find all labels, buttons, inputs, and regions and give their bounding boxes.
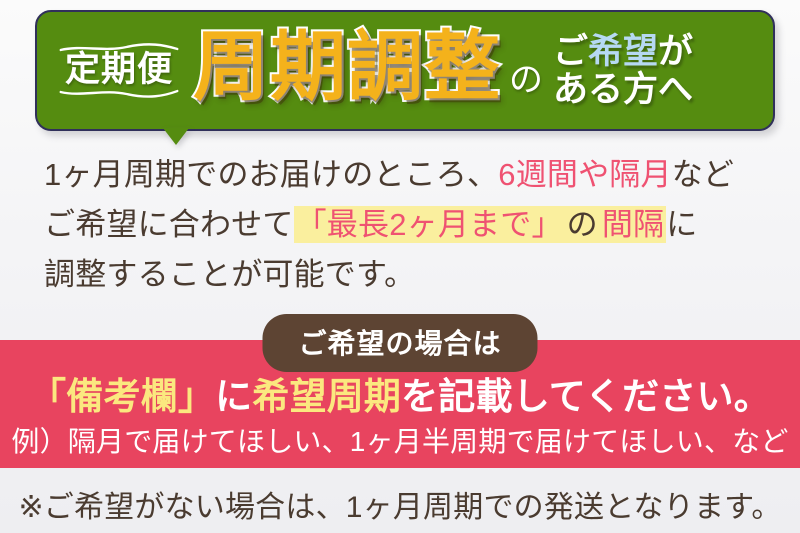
- header-callout-box: 定期便 周期調整 の ご希望が ある方へ: [35, 10, 775, 131]
- wish-callout-line-1: ご希望が: [553, 33, 693, 71]
- body-line-1-text-b: や: [578, 157, 609, 192]
- instruction-text-a: に: [215, 376, 252, 417]
- wish-prefix: ご: [553, 32, 588, 71]
- body-line-1-text-c: など: [672, 157, 734, 192]
- instruction-text-b: を記載してください。: [401, 376, 771, 417]
- subscription-badge-label: 定期便: [65, 52, 173, 87]
- instruction-examples: 例）隔月で届けてほしい、1ヶ月半周期で届けてほしい、など: [0, 420, 800, 460]
- body-line-2-text-c: に: [666, 207, 697, 242]
- wavy-rule-top-icon: [59, 44, 179, 53]
- page-title: 周期調整: [193, 30, 501, 106]
- subscription-badge: 定期便: [59, 42, 179, 99]
- wavy-rule-bottom-icon: [59, 88, 179, 97]
- body-line-2-highlight-interval: 間隔: [600, 206, 666, 243]
- body-line-2-text-a: ご希望に合わせて: [44, 207, 294, 242]
- instruction-keyword-remarks: 「備考欄」: [29, 376, 215, 417]
- body-line-2: ご希望に合わせて「最長2ヶ月まで」の間隔に: [44, 200, 774, 250]
- wish-callout-line-2: ある方へ: [553, 71, 693, 109]
- body-line-2-highlight-maxperiod: 「最長2ヶ月まで」: [294, 206, 565, 243]
- title-particle: の: [509, 63, 543, 97]
- callout-tail-icon: [163, 128, 189, 145]
- body-line-1: 1ヶ月周期でのお届けのところ、6週間や隔月など: [44, 150, 774, 200]
- wish-callout: ご希望が ある方へ: [553, 33, 693, 109]
- footer-note: ※ご希望がない場合は、1ヶ月周期での発送となります。: [0, 482, 800, 526]
- body-copy: 1ヶ月周期でのお届けのところ、6週間や隔月など ご希望に合わせて「最長2ヶ月まで…: [44, 150, 774, 300]
- wish-suffix: が: [658, 32, 693, 71]
- body-line-1-text-a: 1ヶ月周期でのお届けのところ、: [44, 157, 498, 192]
- body-line-1-highlight-bimonthly: 隔月: [609, 157, 671, 192]
- wish-keyword: 希望: [588, 32, 658, 71]
- promotional-banner: 定期便 周期調整 の ご希望が ある方へ 1ヶ月周期でのお届けのところ、6週間や…: [0, 0, 800, 533]
- body-line-1-highlight-6weeks: 6週間: [498, 157, 578, 192]
- request-pill-label: ご希望の場合は: [262, 314, 537, 372]
- instruction-keyword-cycle: 希望周期: [252, 376, 401, 417]
- body-line-3: 調整することが可能です。: [44, 250, 774, 300]
- body-line-2-text-b: の: [565, 206, 600, 243]
- instruction-headline: 「備考欄」に希望周期を記載してください。: [0, 366, 800, 420]
